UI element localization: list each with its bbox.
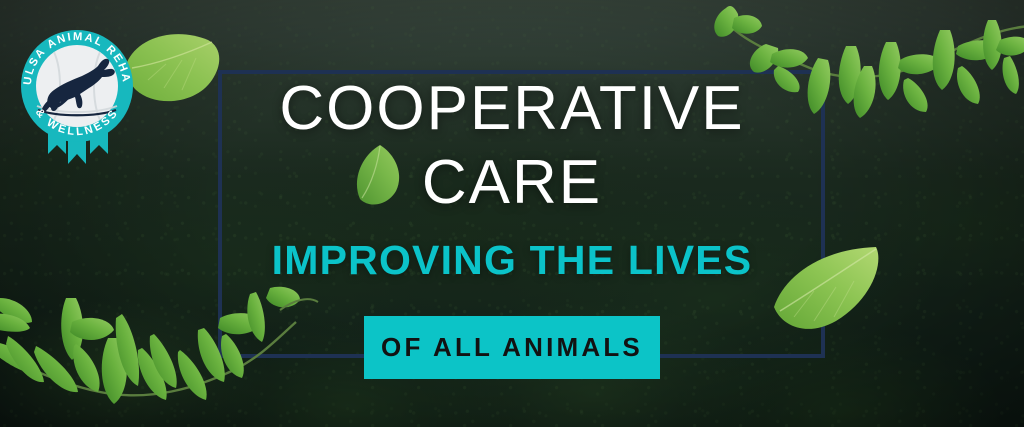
cta-container: Of All Animals [0, 316, 1024, 379]
page-title: Cooperative Care [0, 72, 1024, 220]
subtitle: Improving the Lives [0, 236, 1024, 284]
cooperative-care-banner: TULSA ANIMAL REHAB & WELLNESS Cooperativ… [0, 0, 1024, 427]
of-all-animals-badge[interactable]: Of All Animals [364, 316, 660, 379]
